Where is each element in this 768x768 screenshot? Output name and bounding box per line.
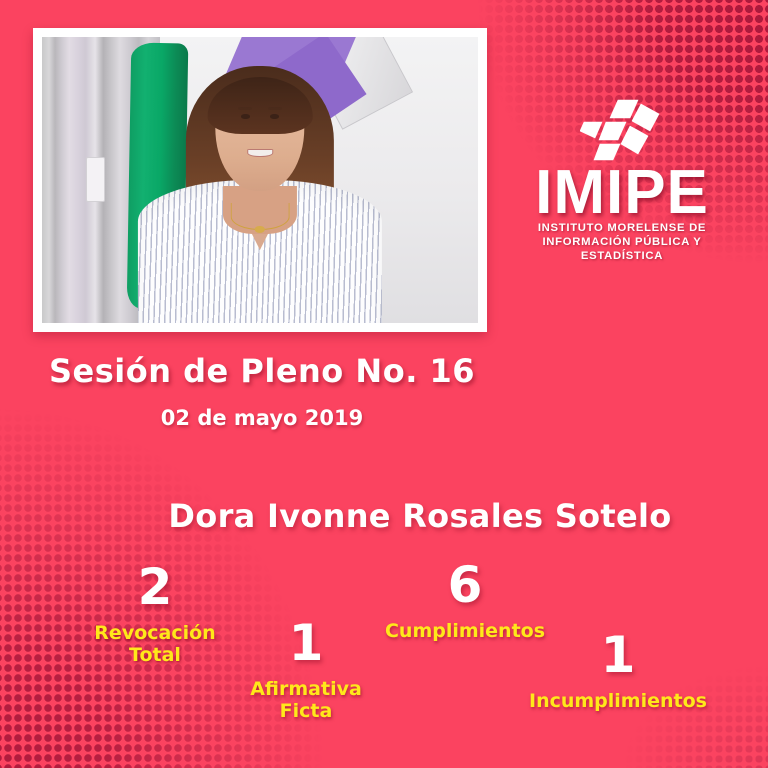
person-eyebrow-left	[238, 107, 252, 109]
imipe-logo: IMIPE INSTITUTO MORELENSE DE INFORMACIÓN…	[504, 98, 740, 263]
stat-label: Afirmativa Ficta	[236, 678, 376, 723]
imipe-logo-mark	[580, 98, 664, 162]
person-eye-left	[241, 114, 250, 119]
person-smile	[247, 149, 273, 157]
session-date: 02 de mayo 2019	[0, 406, 524, 430]
wall-switch	[86, 157, 105, 202]
stat-value: 1	[498, 630, 738, 680]
imipe-subtitle-line2: INFORMACIÓN PÚBLICA Y ESTADÍSTICA	[504, 235, 740, 263]
portrait-photo	[42, 37, 478, 323]
session-title: Sesión de Pleno No. 16	[0, 352, 524, 390]
portrait-photo-frame	[33, 28, 487, 332]
stat-value: 2	[55, 562, 255, 612]
stat-value: 1	[236, 618, 376, 668]
stat-incumplimientos: 1 Incumplimientos	[498, 630, 738, 712]
person-eyebrow-right	[268, 107, 282, 109]
poster-canvas: IMIPE INSTITUTO MORELENSE DE INFORMACIÓN…	[0, 0, 768, 768]
person-eye-right	[270, 114, 279, 119]
stat-value: 6	[358, 560, 572, 610]
imipe-wordmark: IMIPE	[504, 164, 740, 221]
stat-label: Incumplimientos	[498, 690, 738, 712]
person-name: Dora Ivonne Rosales Sotelo	[0, 497, 768, 535]
imipe-subtitle-line1: INSTITUTO MORELENSE DE	[504, 221, 740, 235]
stat-revocacion-total: 2 Revocación Total	[55, 562, 255, 667]
stat-label: Revocación Total	[55, 622, 255, 667]
stat-afirmativa-ficta: 1 Afirmativa Ficta	[236, 618, 376, 723]
